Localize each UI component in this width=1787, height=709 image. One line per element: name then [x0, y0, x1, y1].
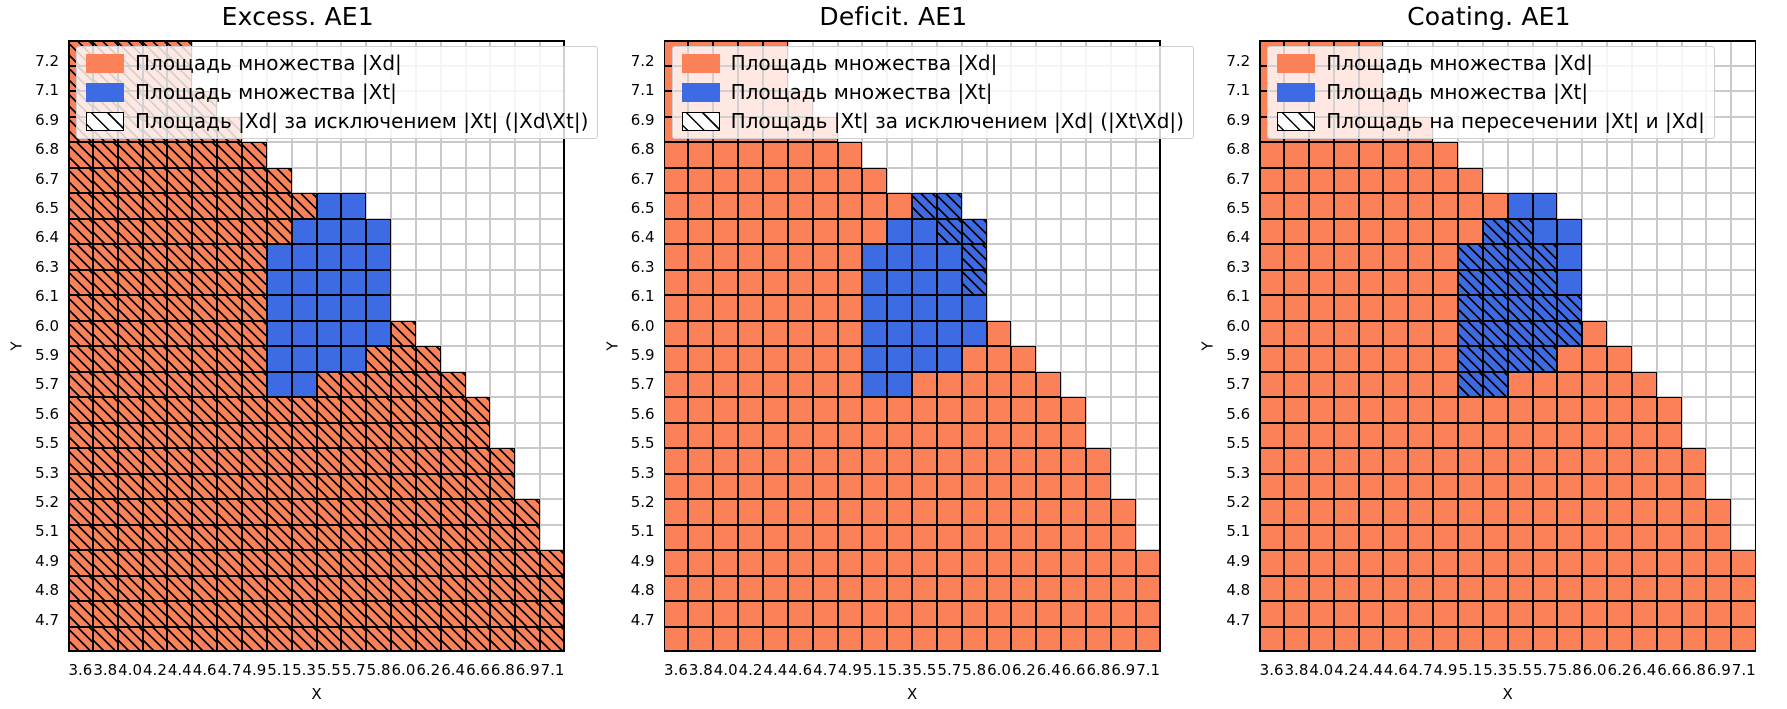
legend-entry: Площадь |Xd| за исключением |Xt| (|Xd\Xt…: [86, 110, 588, 132]
y-tick-label: 6.4: [631, 228, 664, 246]
grid-cell-xd: [1607, 525, 1632, 551]
grid-cell-xd-hatched: [167, 372, 192, 398]
grid-cell-empty: [466, 346, 491, 372]
grid-cell-xd: [962, 525, 987, 551]
grid-cell-empty: [862, 142, 887, 168]
grid-cell-xd: [1657, 601, 1682, 627]
axis-spine-r: [1755, 40, 1757, 652]
grid-cell-xd: [788, 423, 813, 449]
grid-cell-xd-hatched: [143, 142, 168, 168]
y-tick-label: 6.5: [1226, 199, 1259, 217]
legend-label: Площадь множества |Xt|: [135, 82, 397, 102]
grid-cell-xd: [1359, 448, 1384, 474]
grid-cell-empty: [540, 244, 565, 270]
grid-cell-xd: [1036, 474, 1061, 500]
grid-cell-xd-hatched: [391, 576, 416, 602]
grid-cell-xd: [1682, 550, 1707, 576]
grid-cell-xd: [887, 576, 912, 602]
grid-cell-xt: [341, 270, 366, 296]
grid-cell-xd-hatched: [217, 321, 242, 347]
grid-cell-empty: [887, 168, 912, 194]
grid-cell-xd: [688, 321, 713, 347]
legend-label: Площадь |Xd| за исключением |Xt| (|Xd\Xt…: [135, 111, 588, 131]
grid-cell-xd: [1309, 576, 1334, 602]
grid-cell-xd-hatched: [93, 346, 118, 372]
grid-cell-xd-hatched: [93, 499, 118, 525]
grid-cell-xd: [987, 499, 1012, 525]
grid-cell-empty: [1036, 346, 1061, 372]
grid-cell-xd: [1036, 499, 1061, 525]
grid-cell-xd-hatched: [118, 601, 143, 627]
grid-cell-xd-hatched: [416, 525, 441, 551]
grid-cell-xd: [1259, 423, 1284, 449]
grid-cell-xd-hatched: [341, 627, 366, 653]
grid-cell-xd: [1061, 550, 1086, 576]
grid-cell-xd: [887, 397, 912, 423]
grid-cell-xt-hatched: [962, 244, 987, 270]
grid-cell-xd-hatched: [366, 550, 391, 576]
grid-cell-empty: [987, 142, 1012, 168]
grid-cell-xd: [887, 423, 912, 449]
grid-cell-xd-hatched: [192, 576, 217, 602]
grid-cell-xd: [1483, 576, 1508, 602]
grid-cell-xd-hatched: [267, 550, 292, 576]
grid-cell-xt-hatched: [1557, 321, 1582, 347]
grid-cell-empty: [1086, 168, 1111, 194]
y-tick-label: 6.0: [631, 317, 664, 335]
grid-cell-xd-hatched: [540, 550, 565, 576]
axes: 7.27.16.96.86.76.56.46.36.16.05.95.75.65…: [664, 40, 1161, 652]
y-tick-label: 7.2: [35, 52, 68, 70]
y-tick-label: 4.8: [1226, 581, 1259, 599]
grid-cell-empty: [1632, 219, 1657, 245]
x-tick-label: 4.9: [1434, 652, 1458, 679]
grid-cell-xd-hatched: [490, 550, 515, 576]
grid-cell-xd: [1607, 474, 1632, 500]
grid-cell-xd-hatched: [217, 372, 242, 398]
grid-cell-xd-hatched: [167, 142, 192, 168]
grid-cell-xd: [763, 627, 788, 653]
grid-cell-xd: [1284, 474, 1309, 500]
grid-cell-xd: [664, 346, 689, 372]
grid-cell-xd-hatched: [118, 346, 143, 372]
grid-cell-xd-hatched: [391, 627, 416, 653]
x-tick-label: 4.4: [168, 652, 192, 679]
grid-cell-xd: [1259, 448, 1284, 474]
grid-cell-xt: [317, 244, 342, 270]
grid-cell-xd: [738, 168, 763, 194]
grid-cell-xd-hatched: [490, 627, 515, 653]
grid-cell-xd-hatched: [242, 295, 267, 321]
grid-cell-empty: [466, 321, 491, 347]
y-tick-label: 6.8: [35, 140, 68, 158]
grid-cell-xt: [862, 270, 887, 296]
grid-cell-xd: [1309, 423, 1334, 449]
grid-cell-xt: [341, 346, 366, 372]
grid-cell-empty: [515, 346, 540, 372]
grid-cell-xd: [1458, 448, 1483, 474]
grid-cell-xt-hatched: [1483, 321, 1508, 347]
grid-cell-empty: [341, 168, 366, 194]
grid-cell-xd: [1359, 219, 1384, 245]
grid-cell-xd: [1334, 474, 1359, 500]
grid-cell-xt: [267, 244, 292, 270]
grid-cell-empty: [441, 244, 466, 270]
grid-cell-xd-hatched: [267, 219, 292, 245]
grid-cell-xd: [1408, 423, 1433, 449]
grid-cell-empty: [515, 372, 540, 398]
grid-cell-xd-hatched: [192, 321, 217, 347]
grid-cell-xt-hatched: [1458, 295, 1483, 321]
grid-cell-xd-hatched: [192, 193, 217, 219]
grid-cell-xd: [1383, 499, 1408, 525]
grid-cell-empty: [1557, 168, 1582, 194]
grid-cell-xt: [862, 295, 887, 321]
grid-cell-xd: [713, 219, 738, 245]
grid-cell-xd: [1284, 142, 1309, 168]
grid-cell-xd: [1557, 576, 1582, 602]
grid-cell-xd: [1706, 627, 1731, 653]
grid-cell-xd: [1557, 550, 1582, 576]
grid-cell-xd: [713, 576, 738, 602]
grid-cell-empty: [1657, 142, 1682, 168]
grid-cell-xd: [763, 397, 788, 423]
grid-cell-xd: [862, 397, 887, 423]
grid-cell-xd: [838, 627, 863, 653]
grid-cell-xd: [1483, 397, 1508, 423]
grid-cell-empty: [1557, 142, 1582, 168]
grid-cell-xt-hatched: [1458, 372, 1483, 398]
grid-cell-xd-hatched: [341, 525, 366, 551]
grid-cell-xd: [1607, 550, 1632, 576]
grid-cell-xt: [267, 346, 292, 372]
grid-cell-xd: [1284, 576, 1309, 602]
grid-cell-xd: [1086, 474, 1111, 500]
y-tick-label: 6.0: [1226, 317, 1259, 335]
grid-cell-empty: [490, 142, 515, 168]
grid-cell-xd-hatched: [341, 576, 366, 602]
grid-cell-empty: [1136, 142, 1161, 168]
grid-cell-xd-hatched: [118, 219, 143, 245]
grid-cell-xd: [688, 219, 713, 245]
grid-cell-xd-hatched: [217, 193, 242, 219]
grid-cell-empty: [1632, 321, 1657, 347]
grid-cell-xd-hatched: [366, 627, 391, 653]
grid-cell-xd: [1309, 372, 1334, 398]
grid-cell-empty: [962, 142, 987, 168]
legend-swatch-xt-icon: [86, 83, 124, 102]
legend: Площадь множества |Xd|Площадь множества …: [1267, 46, 1715, 139]
grid-cell-empty: [1136, 193, 1161, 219]
x-tick-label: 3.8: [1285, 652, 1309, 679]
grid-cell-xd: [1682, 627, 1707, 653]
grid-cell-xt-hatched: [1533, 346, 1558, 372]
grid-cell-xd-hatched: [68, 270, 93, 296]
grid-cell-xd: [1408, 270, 1433, 296]
grid-cell-xd-hatched: [267, 423, 292, 449]
grid-cell-xd: [1383, 397, 1408, 423]
grid-cell-xd: [664, 142, 689, 168]
grid-cell-xd: [1483, 448, 1508, 474]
grid-cell-empty: [1731, 193, 1756, 219]
panel-title: Deficit. AE1: [596, 2, 1192, 31]
grid-cell-xd: [838, 168, 863, 194]
grid-cell-xd: [987, 474, 1012, 500]
grid-cell-xd: [1111, 576, 1136, 602]
grid-cell-xd-hatched: [167, 346, 192, 372]
grid-cell-empty: [515, 270, 540, 296]
grid-cell-xd-hatched: [118, 295, 143, 321]
grid-cell-xd: [788, 193, 813, 219]
grid-cell-empty: [490, 193, 515, 219]
grid-cell-xd: [1408, 397, 1433, 423]
x-tick-label: 6.6: [1062, 652, 1086, 679]
legend-entry: Площадь множества |Xt|: [1277, 81, 1705, 103]
grid-cell-empty: [1086, 244, 1111, 270]
grid-cell-xd-hatched: [416, 448, 441, 474]
grid-cell-xd: [887, 499, 912, 525]
grid-cell-empty: [292, 168, 317, 194]
grid-cell-xd: [987, 576, 1012, 602]
grid-cell-xt: [292, 219, 317, 245]
grid-cell-xd: [664, 423, 689, 449]
grid-cell-xd-hatched: [93, 219, 118, 245]
grid-cell-xd-hatched: [68, 448, 93, 474]
grid-cell-empty: [1136, 397, 1161, 423]
grid-cell-xd: [962, 346, 987, 372]
legend-swatch-xt-icon: [682, 83, 720, 102]
grid-cell-xd: [788, 397, 813, 423]
plot-area-wrapper: 7.27.16.96.86.76.56.46.36.16.05.95.75.65…: [68, 40, 565, 652]
grid-cell-empty: [1508, 142, 1533, 168]
grid-cell-empty: [540, 142, 565, 168]
grid-cell-xd-hatched: [93, 550, 118, 576]
grid-cell-xd: [838, 193, 863, 219]
grid-cell-xd-hatched: [292, 193, 317, 219]
grid-cell-xd-hatched: [540, 627, 565, 653]
x-tick-label: 6.4: [441, 652, 465, 679]
grid-cell-xd-hatched: [267, 576, 292, 602]
grid-cell-xd: [987, 321, 1012, 347]
grid-cell-xd-hatched: [68, 397, 93, 423]
grid-cell-empty: [1607, 270, 1632, 296]
grid-cell-xd: [1359, 193, 1384, 219]
grid-cell-xd-hatched: [317, 525, 342, 551]
grid-cell-xd: [1383, 346, 1408, 372]
grid-cell-xd: [1557, 346, 1582, 372]
grid-cell-xd-hatched: [118, 193, 143, 219]
grid-cell-xd: [887, 601, 912, 627]
grid-cell-empty: [1731, 295, 1756, 321]
grid-cell-xd: [887, 448, 912, 474]
grid-cell-xt: [366, 270, 391, 296]
x-tick-label: 4.0: [1309, 652, 1333, 679]
grid-cell-xd: [688, 550, 713, 576]
grid-cell-xd: [838, 576, 863, 602]
grid-cell-xd: [664, 474, 689, 500]
grid-cell-xd: [1061, 397, 1086, 423]
grid-cell-xd: [1309, 321, 1334, 347]
x-tick-label: 4.9: [242, 652, 266, 679]
grid-cell-xd-hatched: [267, 474, 292, 500]
grid-cell-xd: [1533, 550, 1558, 576]
grid-cell-empty: [962, 168, 987, 194]
grid-cell-xd-hatched: [167, 423, 192, 449]
grid-cell-xd-hatched: [167, 219, 192, 245]
grid-cell-xd: [1061, 576, 1086, 602]
grid-cell-xd: [1334, 550, 1359, 576]
grid-cell-xd: [664, 525, 689, 551]
grid-cell-xd-hatched: [466, 627, 491, 653]
grid-cell-xd-hatched: [93, 168, 118, 194]
y-tick-label: 6.8: [1226, 140, 1259, 158]
x-tick-label: 4.7: [218, 652, 242, 679]
grid-cell-xd: [738, 601, 763, 627]
grid-cell-xt: [317, 321, 342, 347]
grid-cell-empty: [1111, 244, 1136, 270]
grid-cell-empty: [540, 219, 565, 245]
grid-cell-xd: [1433, 372, 1458, 398]
grid-cell-xd: [688, 193, 713, 219]
x-tick-label: 4.6: [193, 652, 217, 679]
grid-cell-xd: [1533, 397, 1558, 423]
x-tick-label: 5.5: [317, 652, 341, 679]
grid-cell-xd-hatched: [366, 576, 391, 602]
grid-cell-empty: [515, 295, 540, 321]
grid-cell-empty: [912, 142, 937, 168]
grid-cell-empty: [341, 142, 366, 168]
grid-cell-xd: [1011, 372, 1036, 398]
grid-cell-xd: [1557, 372, 1582, 398]
grid-cell-xd: [1334, 397, 1359, 423]
grid-cell-xt: [937, 244, 962, 270]
grid-cell-xt: [267, 321, 292, 347]
grid-cell-xd: [1607, 576, 1632, 602]
grid-cell-xd-hatched: [118, 244, 143, 270]
grid-cell-xd: [1731, 576, 1756, 602]
grid-cell-xd: [1533, 423, 1558, 449]
grid-cell-xd: [1334, 321, 1359, 347]
grid-cell-xd-hatched: [242, 270, 267, 296]
grid-cell-xd: [664, 448, 689, 474]
grid-cell-xd: [738, 550, 763, 576]
x-tick-label: 6.0: [987, 652, 1011, 679]
grid-cell-xd-hatched: [391, 372, 416, 398]
grid-cell-xd: [1706, 576, 1731, 602]
grid-cell-empty: [317, 168, 342, 194]
grid-cell-empty: [1682, 142, 1707, 168]
grid-cell-empty: [1136, 423, 1161, 449]
grid-cell-empty: [1533, 168, 1558, 194]
grid-cell-xd: [1136, 550, 1161, 576]
grid-cell-xd: [1433, 270, 1458, 296]
grid-cell-xd-hatched: [242, 219, 267, 245]
grid-cell-xd: [1433, 499, 1458, 525]
grid-cell-xd-hatched: [143, 219, 168, 245]
grid-cell-empty: [1582, 270, 1607, 296]
grid-cell-xd: [664, 576, 689, 602]
grid-cell-xd: [912, 627, 937, 653]
grid-cell-xd: [1582, 448, 1607, 474]
grid-cell-xd: [1508, 372, 1533, 398]
grid-cell-xd-hatched: [441, 525, 466, 551]
grid-cell-xd: [788, 499, 813, 525]
grid-cell-xd-hatched: [167, 474, 192, 500]
grid-cell-xd: [1408, 219, 1433, 245]
grid-cell-xd: [1582, 627, 1607, 653]
x-tick-label: 4.2: [739, 652, 763, 679]
grid-cell-empty: [1682, 244, 1707, 270]
grid-cell-empty: [1036, 142, 1061, 168]
grid-cell-xd-hatched: [68, 321, 93, 347]
x-tick-label: 6.8: [1087, 652, 1111, 679]
grid-cell-empty: [1731, 372, 1756, 398]
grid-cell-xd: [1408, 576, 1433, 602]
grid-cell-xt-hatched: [1533, 270, 1558, 296]
grid-cell-xd: [1259, 244, 1284, 270]
y-tick-label: 7.1: [35, 81, 68, 99]
grid-cell-xd: [813, 474, 838, 500]
grid-cell-xd: [987, 448, 1012, 474]
grid-cell-xd: [862, 448, 887, 474]
grid-cell-empty: [466, 372, 491, 398]
grid-cell-empty: [1682, 295, 1707, 321]
grid-cell-xd: [1334, 219, 1359, 245]
grid-cell-xd: [713, 244, 738, 270]
y-tick-label: 5.2: [35, 493, 68, 511]
grid-cell-xt: [292, 321, 317, 347]
grid-cell-empty: [1706, 346, 1731, 372]
grid-cell-empty: [1632, 193, 1657, 219]
grid-cell-xd: [1533, 525, 1558, 551]
grid-cell-empty: [1731, 142, 1756, 168]
grid-cell-empty: [962, 193, 987, 219]
grid-cell-empty: [515, 142, 540, 168]
grid-cell-xd-hatched: [217, 423, 242, 449]
grid-cell-xd-hatched: [242, 525, 267, 551]
grid-cell-xd-hatched: [515, 550, 540, 576]
grid-cell-xd-hatched: [466, 601, 491, 627]
legend-entry: Площадь на пересечении |Xt| и |Xd|: [1277, 110, 1705, 132]
grid-cell-xd: [838, 423, 863, 449]
grid-cell-xt-hatched: [1483, 244, 1508, 270]
legend-entry: Площадь множества |Xd|: [1277, 52, 1705, 74]
grid-cell-xd-hatched: [242, 346, 267, 372]
grid-cell-xt: [1557, 219, 1582, 245]
grid-cell-empty: [1682, 397, 1707, 423]
grid-cell-xd: [1632, 525, 1657, 551]
grid-cell-empty: [466, 219, 491, 245]
grid-cell-xd: [1036, 372, 1061, 398]
grid-cell-xd: [1433, 576, 1458, 602]
grid-cell-xd: [763, 219, 788, 245]
grid-cell-xd: [688, 576, 713, 602]
y-tick-label: 5.7: [35, 375, 68, 393]
grid-cell-xd-hatched: [441, 474, 466, 500]
x-tick-label: 5.5: [913, 652, 937, 679]
grid-cell-xd-hatched: [192, 346, 217, 372]
grid-cell-xd: [1383, 193, 1408, 219]
grid-cell-empty: [490, 244, 515, 270]
grid-cell-empty: [391, 219, 416, 245]
grid-cell-xd-hatched: [93, 193, 118, 219]
grid-cell-xd: [1309, 346, 1334, 372]
grid-cell-xd-hatched: [242, 142, 267, 168]
grid-cell-xd: [1359, 321, 1384, 347]
legend-swatch-hatch-icon: [86, 112, 124, 131]
grid-cell-xd-hatched: [242, 627, 267, 653]
grid-cell-xd: [1508, 627, 1533, 653]
